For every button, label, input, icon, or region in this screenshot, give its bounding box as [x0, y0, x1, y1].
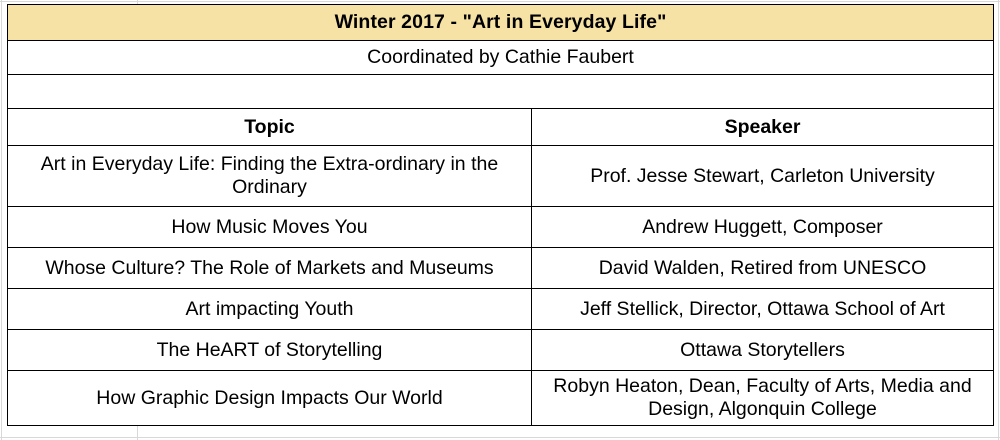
cell-speaker: Ottawa Storytellers	[532, 330, 994, 371]
cell-speaker: Jeff Stellick, Director, Ottawa School o…	[532, 289, 994, 330]
cell-speaker: Prof. Jesse Stewart, Carleton University	[532, 146, 994, 207]
cell-topic: Whose Culture? The Role of Markets and M…	[8, 248, 532, 289]
page-title: Winter 2017 - "Art in Everyday Life"	[8, 5, 994, 41]
cell-topic: How Music Moves You	[8, 207, 532, 248]
table-header-row: Topic Speaker	[8, 109, 994, 146]
cell-topic: Art in Everyday Life: Finding the Extra-…	[8, 146, 532, 207]
sheet-gridline-vertical	[998, 0, 999, 440]
cell-topic: The HeART of Storytelling	[8, 330, 532, 371]
table-row: Art in Everyday Life: Finding the Extra-…	[8, 146, 994, 207]
column-header-speaker: Speaker	[532, 109, 994, 146]
coordinator-label: Coordinated by Cathie Faubert	[8, 41, 994, 75]
table-row: Whose Culture? The Role of Markets and M…	[8, 248, 994, 289]
table-row-title: Winter 2017 - "Art in Everyday Life"	[8, 5, 994, 41]
table-row: Art impacting Youth Jeff Stellick, Direc…	[8, 289, 994, 330]
column-header-topic: Topic	[8, 109, 532, 146]
schedule-table: Winter 2017 - "Art in Everyday Life" Coo…	[7, 4, 994, 426]
cell-speaker: Robyn Heaton, Dean, Faculty of Arts, Med…	[532, 371, 994, 426]
table-row: How Graphic Design Impacts Our World Rob…	[8, 371, 994, 426]
spacer-cell	[8, 75, 994, 109]
spreadsheet-canvas: Winter 2017 - "Art in Everyday Life" Coo…	[0, 0, 1000, 440]
sheet-gridline-horizontal	[0, 1, 1000, 2]
table-row-spacer	[8, 75, 994, 109]
table-row: How Music Moves You Andrew Huggett, Comp…	[8, 207, 994, 248]
table-row-coordinator: Coordinated by Cathie Faubert	[8, 41, 994, 75]
table-row: The HeART of Storytelling Ottawa Storyte…	[8, 330, 994, 371]
cell-speaker: David Walden, Retired from UNESCO	[532, 248, 994, 289]
cell-topic: Art impacting Youth	[8, 289, 532, 330]
sheet-gridline-horizontal	[0, 437, 1000, 438]
sheet-gridline-vertical	[1, 0, 2, 440]
cell-topic: How Graphic Design Impacts Our World	[8, 371, 532, 426]
cell-speaker: Andrew Huggett, Composer	[532, 207, 994, 248]
